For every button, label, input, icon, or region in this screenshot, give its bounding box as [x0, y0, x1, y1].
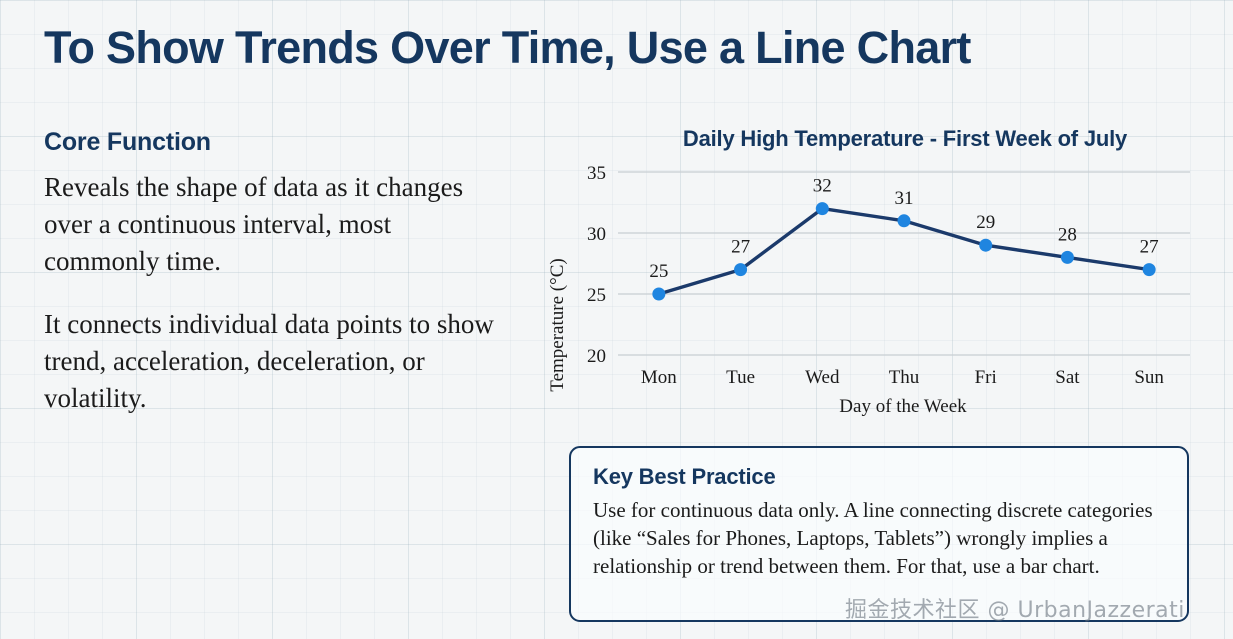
data-point-markers — [652, 202, 1155, 300]
core-function-section: Core Function Reveals the shape of data … — [44, 128, 499, 417]
data-point-label: 32 — [813, 176, 832, 197]
data-point-label: 27 — [1140, 237, 1159, 258]
data-point-marker — [898, 214, 911, 227]
data-point-marker — [1143, 263, 1156, 276]
x-tick-label: Tue — [726, 367, 755, 388]
data-point-marker — [652, 288, 665, 301]
data-point-label: 27 — [731, 237, 750, 258]
core-function-heading: Core Function — [44, 128, 499, 157]
data-point-label: 29 — [976, 212, 995, 233]
page-title: To Show Trends Over Time, Use a Line Cha… — [44, 22, 971, 74]
data-point-label: 31 — [895, 188, 914, 209]
data-point-labels: 25273231292827 — [649, 176, 1158, 282]
core-function-paragraph-1: Reveals the shape of data as it changes … — [44, 169, 499, 280]
x-tick-label: Fri — [975, 367, 997, 388]
y-tick-label: 25 — [587, 285, 606, 306]
key-best-practice-callout: Key Best Practice Use for continuous dat… — [569, 446, 1189, 622]
line-chart-panel: Daily High Temperature - First Week of J… — [540, 120, 1210, 420]
core-function-paragraph-2: It connects individual data points to sh… — [44, 306, 499, 417]
data-point-label: 28 — [1058, 224, 1077, 245]
y-axis-title: Temperature (°C) — [547, 258, 568, 391]
x-axis-title: Day of the Week — [839, 396, 967, 417]
key-best-practice-heading: Key Best Practice — [593, 464, 1165, 490]
data-point-label: 25 — [649, 261, 668, 282]
x-tick-label: Wed — [805, 367, 840, 388]
x-tick-label: Sun — [1134, 367, 1164, 388]
data-point-marker — [734, 263, 747, 276]
data-point-marker — [1061, 251, 1074, 264]
data-point-marker — [979, 239, 992, 252]
data-point-marker — [816, 202, 829, 215]
y-tick-label: 20 — [587, 346, 606, 367]
y-tick-label: 30 — [587, 224, 606, 245]
x-tick-label: Thu — [889, 367, 920, 388]
chart-x-tick-labels: MonTueWedThuFriSatSun — [641, 367, 1165, 388]
y-tick-label: 35 — [587, 163, 606, 184]
slide-root: To Show Trends Over Time, Use a Line Cha… — [0, 0, 1233, 639]
key-best-practice-body: Use for continuous data only. A line con… — [593, 496, 1165, 580]
x-tick-label: Sat — [1055, 367, 1080, 388]
chart-y-tick-labels: 20253035 — [587, 163, 606, 367]
x-tick-label: Mon — [641, 367, 677, 388]
chart-canvas: 20253035 MonTueWedThuFriSatSun 252732312… — [540, 120, 1210, 420]
